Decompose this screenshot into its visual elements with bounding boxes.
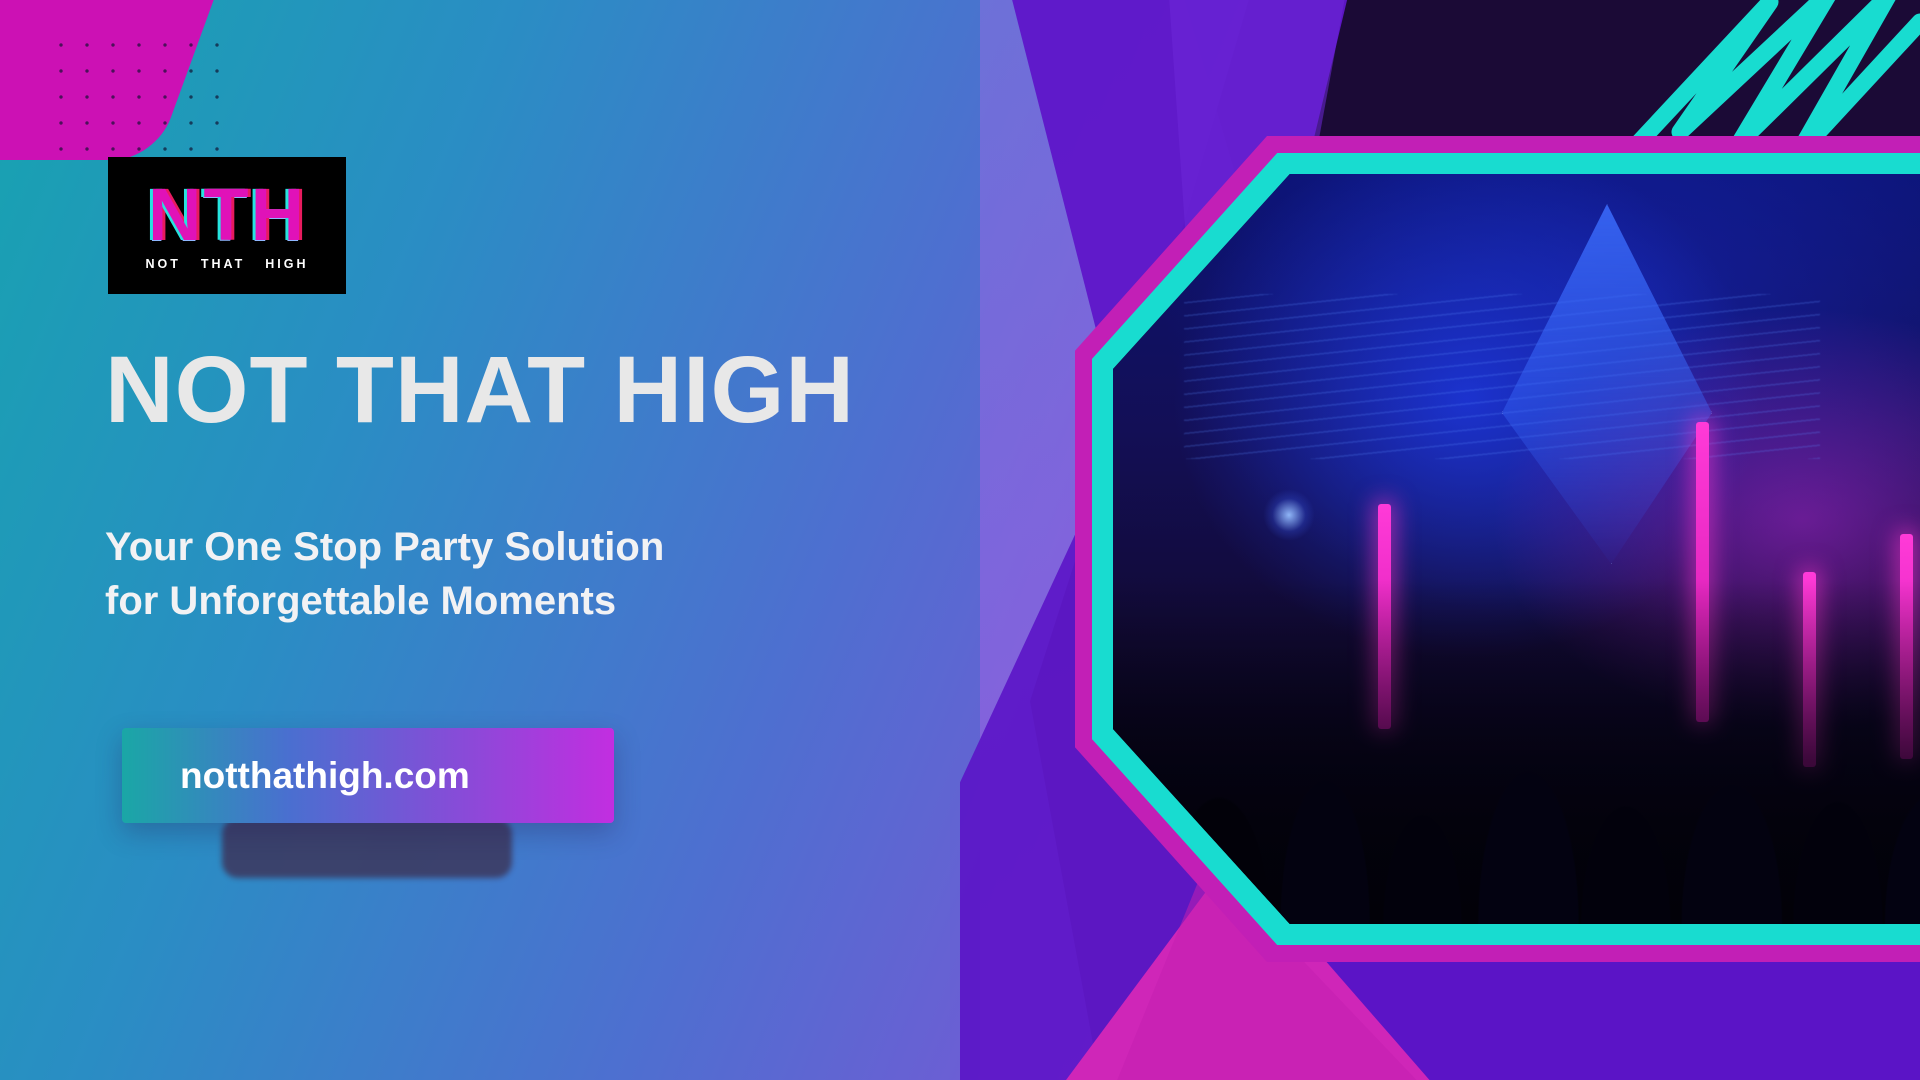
ceiling-spotlight bbox=[1263, 489, 1315, 541]
brand-logo: NTH NOT THAT HIGH bbox=[108, 157, 346, 294]
laser-grid-lines bbox=[1184, 294, 1820, 459]
hero-subtitle-line-2: for Unforgettable Moments bbox=[105, 574, 925, 628]
dot-pattern-decoration bbox=[48, 32, 228, 162]
logo-wordmark: NOT THAT HIGH bbox=[145, 257, 308, 271]
hexagon-photo-frame bbox=[1075, 136, 1920, 962]
hero-subtitle: Your One Stop Party Solution for Unforge… bbox=[105, 520, 925, 628]
logo-monogram: NTH bbox=[148, 180, 306, 250]
logo-word-that: THAT bbox=[201, 257, 245, 271]
promo-banner: NTH NOT THAT HIGH NOT THAT HIGH Your One… bbox=[0, 0, 1920, 1080]
hero-subtitle-line-1: Your One Stop Party Solution bbox=[105, 520, 925, 574]
cta-button-shadow bbox=[222, 818, 512, 878]
logo-word-high: HIGH bbox=[265, 257, 308, 271]
nightclub-photo bbox=[1113, 174, 1920, 924]
page-title: NOT THAT HIGH bbox=[105, 345, 885, 435]
website-cta-button[interactable]: notthathigh.com bbox=[122, 728, 614, 823]
logo-word-not: NOT bbox=[145, 257, 180, 271]
